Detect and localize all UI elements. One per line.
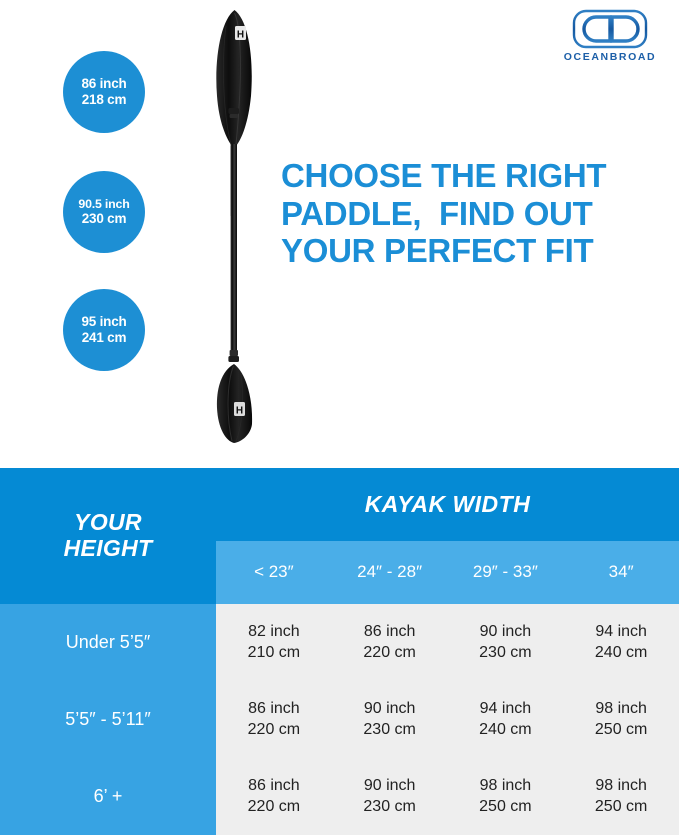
headline-line: YOUR PERFECT FIT: [281, 232, 653, 270]
table-header-row: YOUR HEIGHT KAYAK WIDTH: [0, 468, 679, 541]
table-cell: 90 inch 230 cm: [332, 681, 448, 758]
width-column-header: < 23″: [216, 541, 332, 604]
cell-inch: 90 inch: [332, 698, 448, 719]
cell-inch: 90 inch: [448, 621, 564, 642]
table-cell: 86 inch 220 cm: [216, 681, 332, 758]
oceanbroad-monogram-icon: [558, 8, 662, 50]
svg-text:H: H: [236, 406, 243, 417]
hero-illustration-area: 86 inch 218 cm 90.5 inch 230 cm 95 inch …: [0, 0, 679, 468]
cell-cm: 250 cm: [448, 796, 564, 817]
cell-cm: 220 cm: [216, 796, 332, 817]
bubble-cm-label: 218 cm: [82, 92, 127, 108]
headline-line: CHOOSE THE RIGHT: [281, 157, 653, 195]
page-title: CHOOSE THE RIGHT PADDLE, FIND OUT YOUR P…: [281, 157, 653, 270]
cell-inch: 98 inch: [448, 775, 564, 796]
paddle-sizing-table: YOUR HEIGHT KAYAK WIDTH < 23″ 24″ - 28″ …: [0, 468, 679, 835]
cell-inch: 86 inch: [216, 775, 332, 796]
cell-cm: 250 cm: [563, 796, 679, 817]
cell-inch: 82 inch: [216, 621, 332, 642]
width-column-header: 24″ - 28″: [332, 541, 448, 604]
paddle-length-bubble: 90.5 inch 230 cm: [63, 171, 145, 253]
paddle-length-bubble: 95 inch 241 cm: [63, 289, 145, 371]
cell-inch: 94 inch: [563, 621, 679, 642]
width-column-header: 29″ - 33″: [448, 541, 564, 604]
cell-cm: 250 cm: [563, 719, 679, 740]
cell-cm: 220 cm: [332, 642, 448, 663]
table-cell: 94 inch 240 cm: [448, 681, 564, 758]
svg-text:H: H: [237, 30, 244, 41]
cell-cm: 230 cm: [332, 796, 448, 817]
table-cell: 90 inch 230 cm: [332, 758, 448, 835]
kayak-paddle-image: H H: [196, 4, 272, 448]
cell-inch: 90 inch: [332, 775, 448, 796]
cell-cm: 240 cm: [448, 719, 564, 740]
table-cell: 98 inch 250 cm: [563, 758, 679, 835]
height-range-label: 6’ +: [0, 758, 216, 835]
table-cell: 94 inch 240 cm: [563, 604, 679, 681]
table-cell: 90 inch 230 cm: [448, 604, 564, 681]
cell-cm: 210 cm: [216, 642, 332, 663]
table-cell: 82 inch 210 cm: [216, 604, 332, 681]
your-height-header-line: HEIGHT: [0, 536, 216, 562]
your-height-header: YOUR HEIGHT: [0, 468, 216, 604]
table-cell: 98 inch 250 cm: [563, 681, 679, 758]
your-height-header-line: YOUR: [0, 510, 216, 536]
cell-inch: 94 inch: [448, 698, 564, 719]
table-cell: 98 inch 250 cm: [448, 758, 564, 835]
table-cell: 86 inch 220 cm: [216, 758, 332, 835]
cell-cm: 240 cm: [563, 642, 679, 663]
cell-inch: 86 inch: [332, 621, 448, 642]
height-range-label: Under 5’5″: [0, 604, 216, 681]
paddle-ferrule-lower: [228, 350, 239, 362]
cell-inch: 98 inch: [563, 698, 679, 719]
cell-cm: 230 cm: [448, 642, 564, 663]
table-row: Under 5’5″ 82 inch 210 cm 86 inch 220 cm…: [0, 604, 679, 681]
bubble-inch-label: 90.5 inch: [78, 197, 129, 212]
paddle-shaft: [231, 146, 237, 356]
brand-wordmark: OCEANBROAD: [558, 51, 662, 63]
height-range-label: 5’5″ - 5’11″: [0, 681, 216, 758]
bubble-inch-label: 86 inch: [81, 76, 126, 92]
paddle-blade-upper: H: [216, 10, 251, 148]
brand-logo: OCEANBROAD: [558, 8, 662, 64]
kayak-width-header: KAYAK WIDTH: [216, 468, 679, 541]
paddle-ferrule: [228, 108, 239, 118]
paddle-blade-lower: H: [217, 364, 252, 443]
table-row: 6’ + 86 inch 220 cm 90 inch 230 cm 98 in…: [0, 758, 679, 835]
headline-line: PADDLE, FIND OUT: [281, 195, 653, 233]
cell-cm: 220 cm: [216, 719, 332, 740]
width-column-header: 34″: [563, 541, 679, 604]
bubble-inch-label: 95 inch: [81, 314, 126, 330]
cell-inch: 86 inch: [216, 698, 332, 719]
bubble-cm-label: 230 cm: [82, 211, 127, 227]
cell-cm: 230 cm: [332, 719, 448, 740]
bubble-cm-label: 241 cm: [82, 330, 127, 346]
table-cell: 86 inch 220 cm: [332, 604, 448, 681]
paddle-length-bubble: 86 inch 218 cm: [63, 51, 145, 133]
cell-inch: 98 inch: [563, 775, 679, 796]
table-row: 5’5″ - 5’11″ 86 inch 220 cm 90 inch 230 …: [0, 681, 679, 758]
